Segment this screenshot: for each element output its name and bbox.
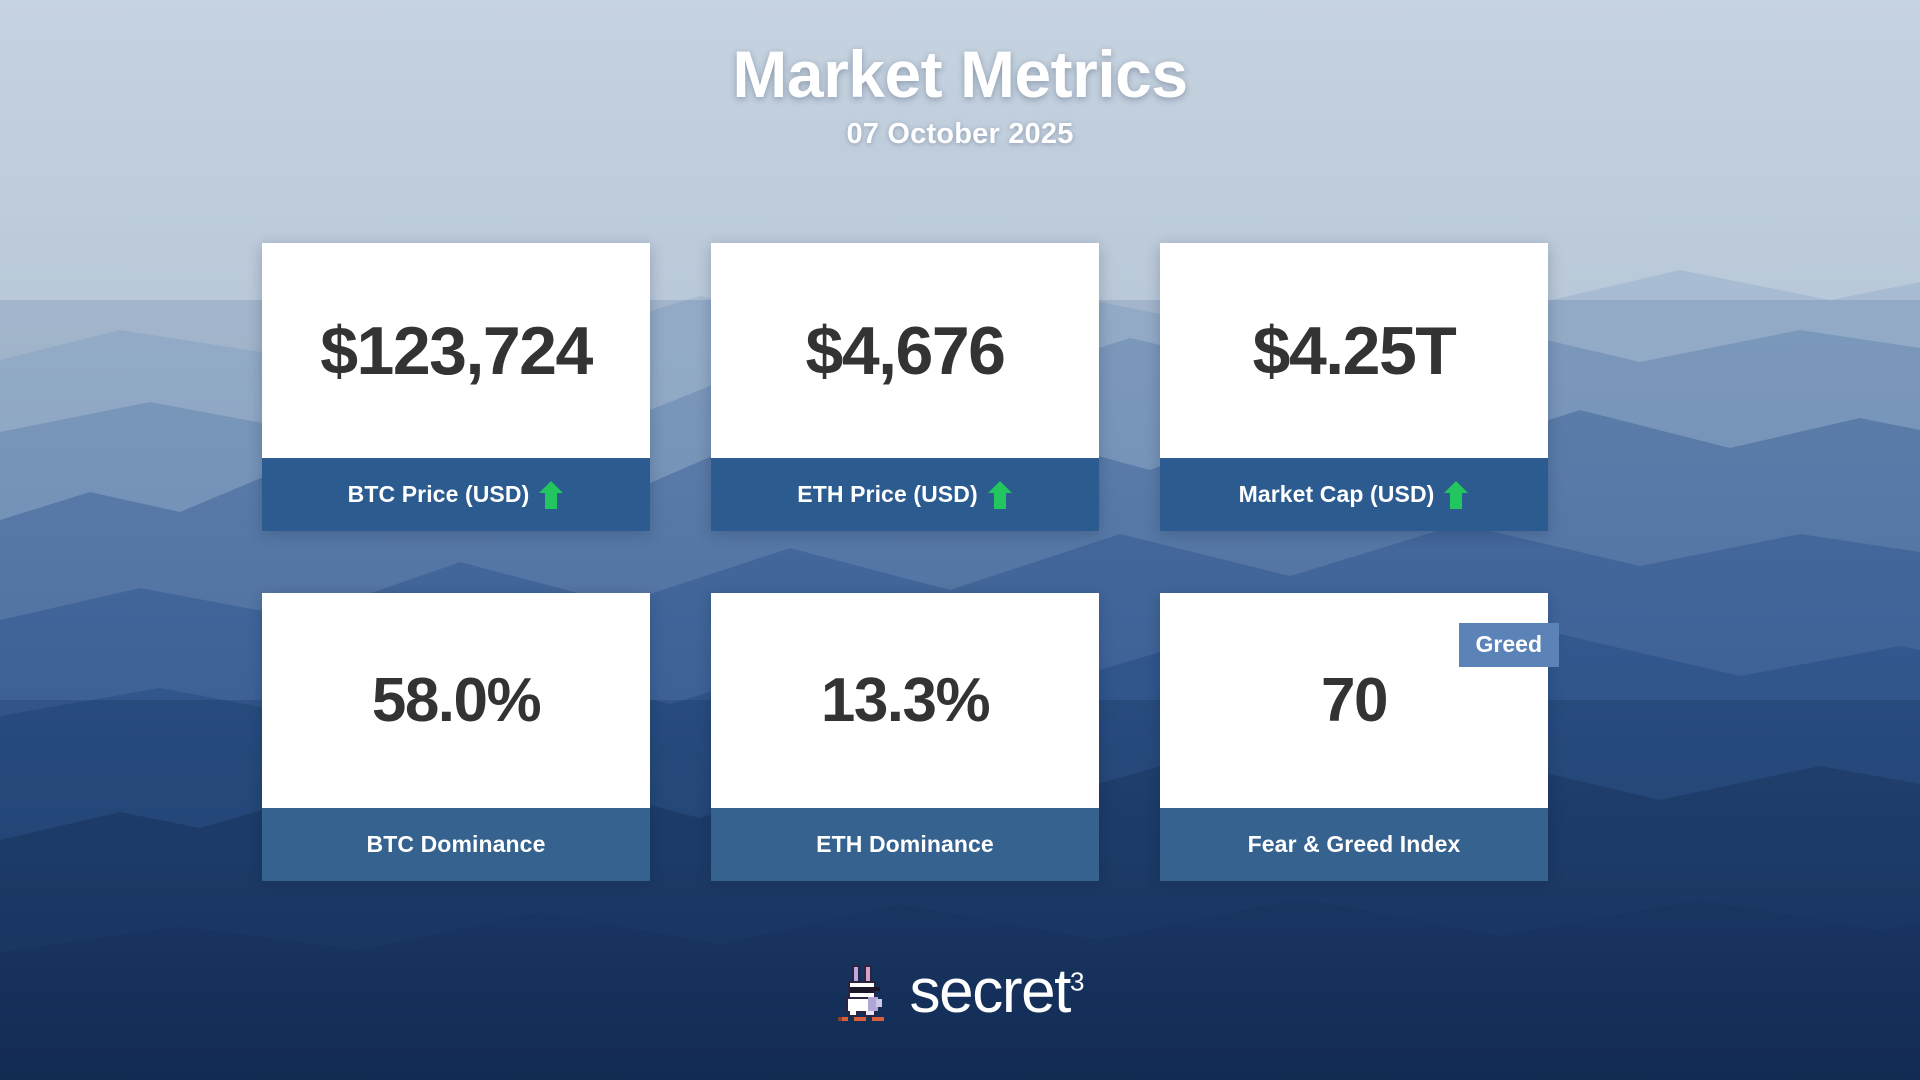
metric-value: $4.25T [1253, 317, 1456, 385]
metric-label: Market Cap (USD) [1239, 481, 1435, 508]
brand-name: secret [910, 957, 1070, 1026]
metric-label: ETH Dominance [816, 831, 994, 858]
metric-value: 58.0% [372, 670, 540, 732]
metric-value-container: $4.25T [1160, 243, 1548, 458]
page-header: Market Metrics 07 October 2025 [0, 0, 1920, 151]
metric-label-bar: Fear & Greed Index [1160, 808, 1548, 881]
metric-value: $4,676 [806, 317, 1005, 385]
page-title: Market Metrics [0, 38, 1920, 112]
metric-value-container: 13.3% [711, 593, 1099, 808]
metric-card-eth-dominance[interactable]: 13.3% ETH Dominance [711, 593, 1099, 881]
metric-card-btc-dominance[interactable]: 58.0% BTC Dominance [262, 593, 650, 881]
brand-superscript: 3 [1070, 966, 1084, 996]
page-subtitle-date: 07 October 2025 [0, 118, 1920, 151]
metric-label-bar: Market Cap (USD) [1160, 458, 1548, 531]
metric-value: $123,724 [320, 317, 592, 385]
pixel-rabbit-icon [836, 961, 896, 1023]
metrics-grid: $123,724 BTC Price (USD) $4,676 ETH Pric… [262, 243, 1548, 881]
metric-label-bar: ETH Price (USD) [711, 458, 1099, 531]
metric-card-fear-greed[interactable]: 70 Greed Fear & Greed Index [1160, 593, 1548, 881]
brand-wordmark: secret3 [910, 961, 1085, 1023]
metric-card-eth-price[interactable]: $4,676 ETH Price (USD) [711, 243, 1099, 531]
metric-value-container: $123,724 [262, 243, 650, 458]
footer-branding: secret3 [0, 961, 1920, 1023]
arrow-up-icon [987, 480, 1013, 510]
metric-label: BTC Dominance [367, 831, 546, 858]
arrow-up-icon [1443, 480, 1469, 510]
metric-label-bar: BTC Price (USD) [262, 458, 650, 531]
metric-label: Fear & Greed Index [1248, 831, 1461, 858]
metric-value: 70 [1321, 670, 1387, 732]
status-badge: Greed [1459, 623, 1559, 667]
metric-label-bar: ETH Dominance [711, 808, 1099, 881]
metric-label: ETH Price (USD) [797, 481, 977, 508]
metric-label: BTC Price (USD) [348, 481, 530, 508]
metric-value-container: 70 Greed [1160, 593, 1548, 808]
metric-card-market-cap[interactable]: $4.25T Market Cap (USD) [1160, 243, 1548, 531]
metric-value-container: 58.0% [262, 593, 650, 808]
metric-label-bar: BTC Dominance [262, 808, 650, 881]
metric-value-container: $4,676 [711, 243, 1099, 458]
metric-value: 13.3% [821, 670, 989, 732]
arrow-up-icon [538, 480, 564, 510]
metric-card-btc-price[interactable]: $123,724 BTC Price (USD) [262, 243, 650, 531]
